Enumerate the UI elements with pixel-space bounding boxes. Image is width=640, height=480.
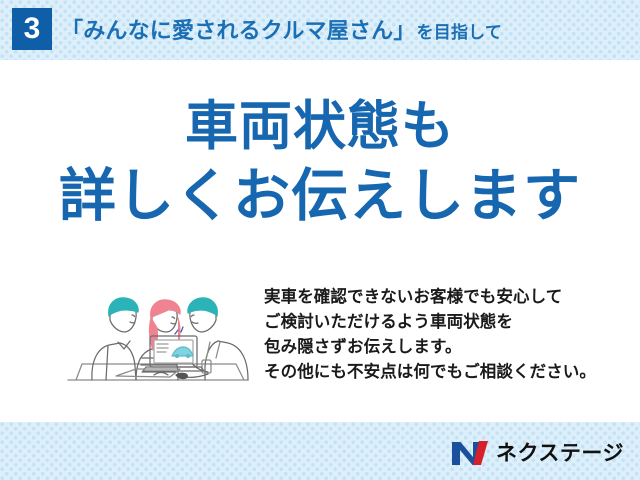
sales-staff-figure bbox=[175, 298, 248, 380]
male-customer-figure bbox=[92, 298, 138, 380]
headline: 車両状態も 詳しくお伝えします bbox=[0, 96, 640, 230]
brand-logo: ネクステージ bbox=[451, 438, 624, 468]
header-title: 「みんなに愛されるクルマ屋さん」 を目指して bbox=[61, 13, 502, 47]
headline-line-1: 車両状態も bbox=[0, 96, 640, 159]
consultation-illustration-svg bbox=[58, 276, 258, 394]
body-copy-line-1: 実車を確認できないお客様でも安心して bbox=[264, 285, 624, 310]
body-copy-line-2: ご検討いただけるよう車両状態を bbox=[264, 310, 624, 335]
advertisement-banner: 3 「みんなに愛されるクルマ屋さん」 を目指して 車両状態も 詳しくお伝えします bbox=[0, 0, 640, 480]
header-title-suffix: を目指して bbox=[417, 18, 503, 43]
body-copy-line-4: その他にも不安点は何でもご相談ください。 bbox=[264, 360, 624, 385]
step-number-badge: 3 bbox=[12, 8, 52, 50]
nextage-n-mark-icon bbox=[451, 440, 489, 466]
body-copy: 実車を確認できないお客様でも安心して ご検討いただけるよう車両状態を 包み隠さず… bbox=[264, 285, 624, 385]
brand-name-text: ネクステージ bbox=[496, 443, 624, 464]
body-copy-line-3: 包み隠さずお伝えします。 bbox=[264, 335, 624, 360]
consultation-illustration bbox=[58, 276, 258, 394]
headline-line-2: 詳しくお伝えします bbox=[0, 163, 640, 230]
header-title-quoted: 「みんなに愛されるクルマ屋さん」 bbox=[61, 13, 416, 45]
